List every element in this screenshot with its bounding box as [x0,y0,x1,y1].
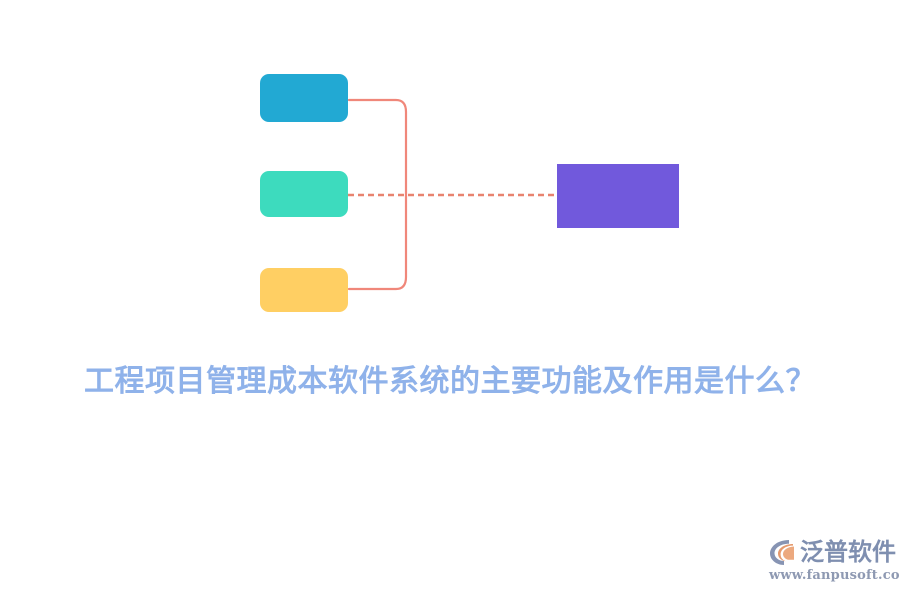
diagram-node-blue[interactable] [260,74,348,122]
connector-yellow-to-junction [349,197,406,289]
diagram-connectors-layer [0,0,900,340]
connector-blue-to-junction [349,100,406,197]
flow-diagram [0,0,900,340]
logo-company-name: 泛普软件 [800,537,896,567]
logo-website-url: www.fanpusoft.com [769,568,900,583]
fanpu-swoosh-icon [768,537,798,567]
diagram-node-purple[interactable] [557,164,679,228]
diagram-node-yellow[interactable] [260,268,348,312]
brand-logo: 泛普软件 www.fanpusoft.com [768,536,892,588]
slide-canvas: 工程项目管理成本软件系统的主要功能及作用是什么？ 泛普软件 www.fanpus… [0,0,900,600]
page-title: 工程项目管理成本软件系统的主要功能及作用是什么？ [0,356,900,400]
logo-row: 泛普软件 [768,536,896,568]
diagram-node-teal[interactable] [260,171,348,217]
